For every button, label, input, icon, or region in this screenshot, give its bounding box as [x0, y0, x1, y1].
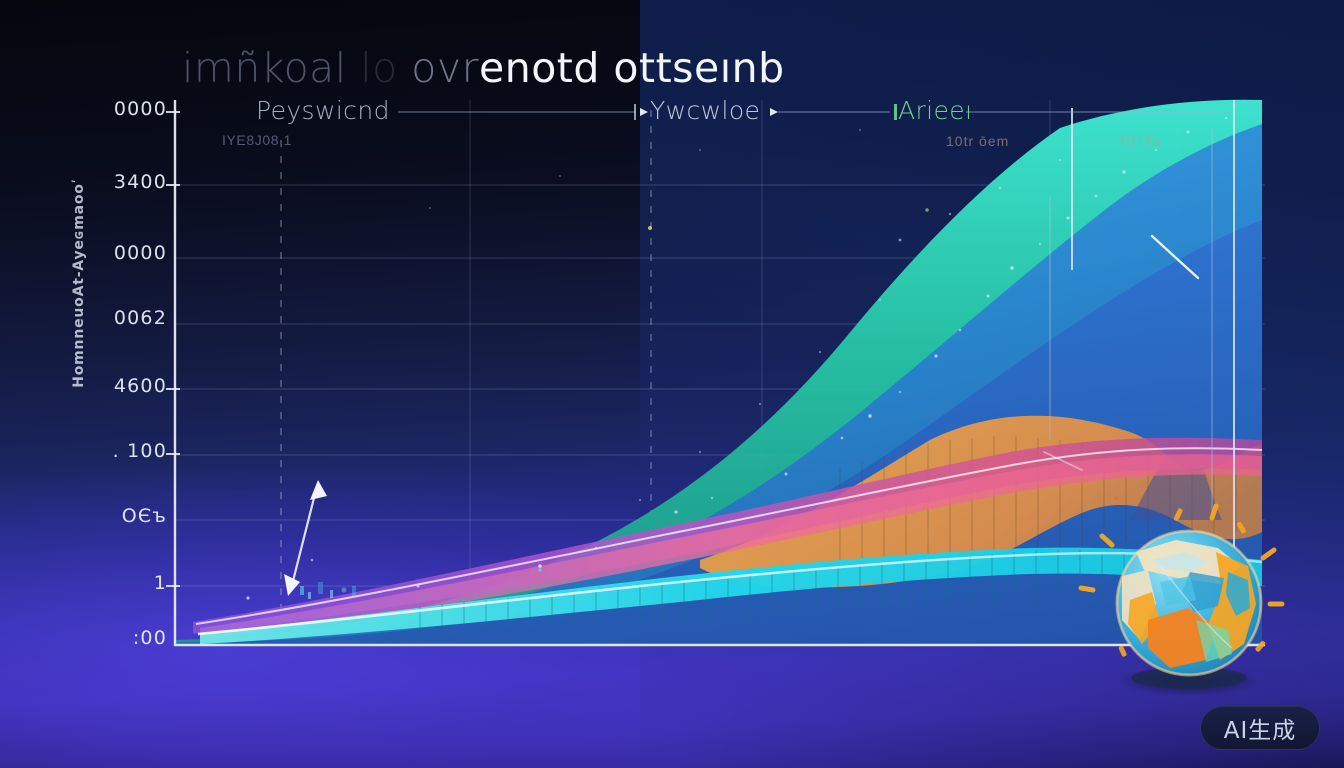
y-tick-6: OЄъ [77, 505, 167, 527]
y-tick-1: 3400 [77, 171, 167, 193]
axis-ticks [166, 112, 180, 586]
y-tick-5: . 100 [77, 440, 167, 462]
legend-item-2-sublabel: 10tr ōem [946, 133, 1009, 149]
page-title: imñkoal lo ovrenotd ottsеınb [182, 44, 785, 92]
y-tick-labels: 0000 3400 0000 0062 4600 . 100 OЄъ 1 :00 [22, 0, 167, 768]
legend-item-3-sublabel: 101To [1118, 133, 1161, 149]
legend-item-0-label[interactable]: Peyswicnd [256, 96, 390, 125]
y-tick-2: 0000 [77, 242, 167, 264]
annotation-arrow [284, 480, 327, 596]
title-part-bright: enotd ottsеınb [479, 44, 785, 92]
title-part-faint: ovr [411, 44, 479, 92]
y-tick-4: 4600 [77, 375, 167, 397]
ai-generated-badge: AI生成 [1200, 706, 1320, 750]
title-part-mid: lo [360, 44, 397, 92]
legend-item-1-label[interactable]: Ywcwloe [650, 96, 760, 125]
y-tick-7: 1 [77, 572, 167, 594]
legend-item-2-label[interactable]: Arieeı [898, 96, 972, 125]
y-tick-3: 0062 [77, 307, 167, 329]
legend-item-0-sublabel: IYE8J08 1 [222, 132, 292, 148]
y-tick-0: 0000 [77, 98, 167, 120]
y-tick-8: :00 [77, 627, 167, 649]
ai-generated-badge-text: AI生成 [1224, 711, 1297, 745]
title-part-dim: imñkoal [182, 44, 347, 92]
chart-canvas: imñkoal lo ovrenotd ottsеınb Peyswicnd I… [0, 0, 1344, 768]
